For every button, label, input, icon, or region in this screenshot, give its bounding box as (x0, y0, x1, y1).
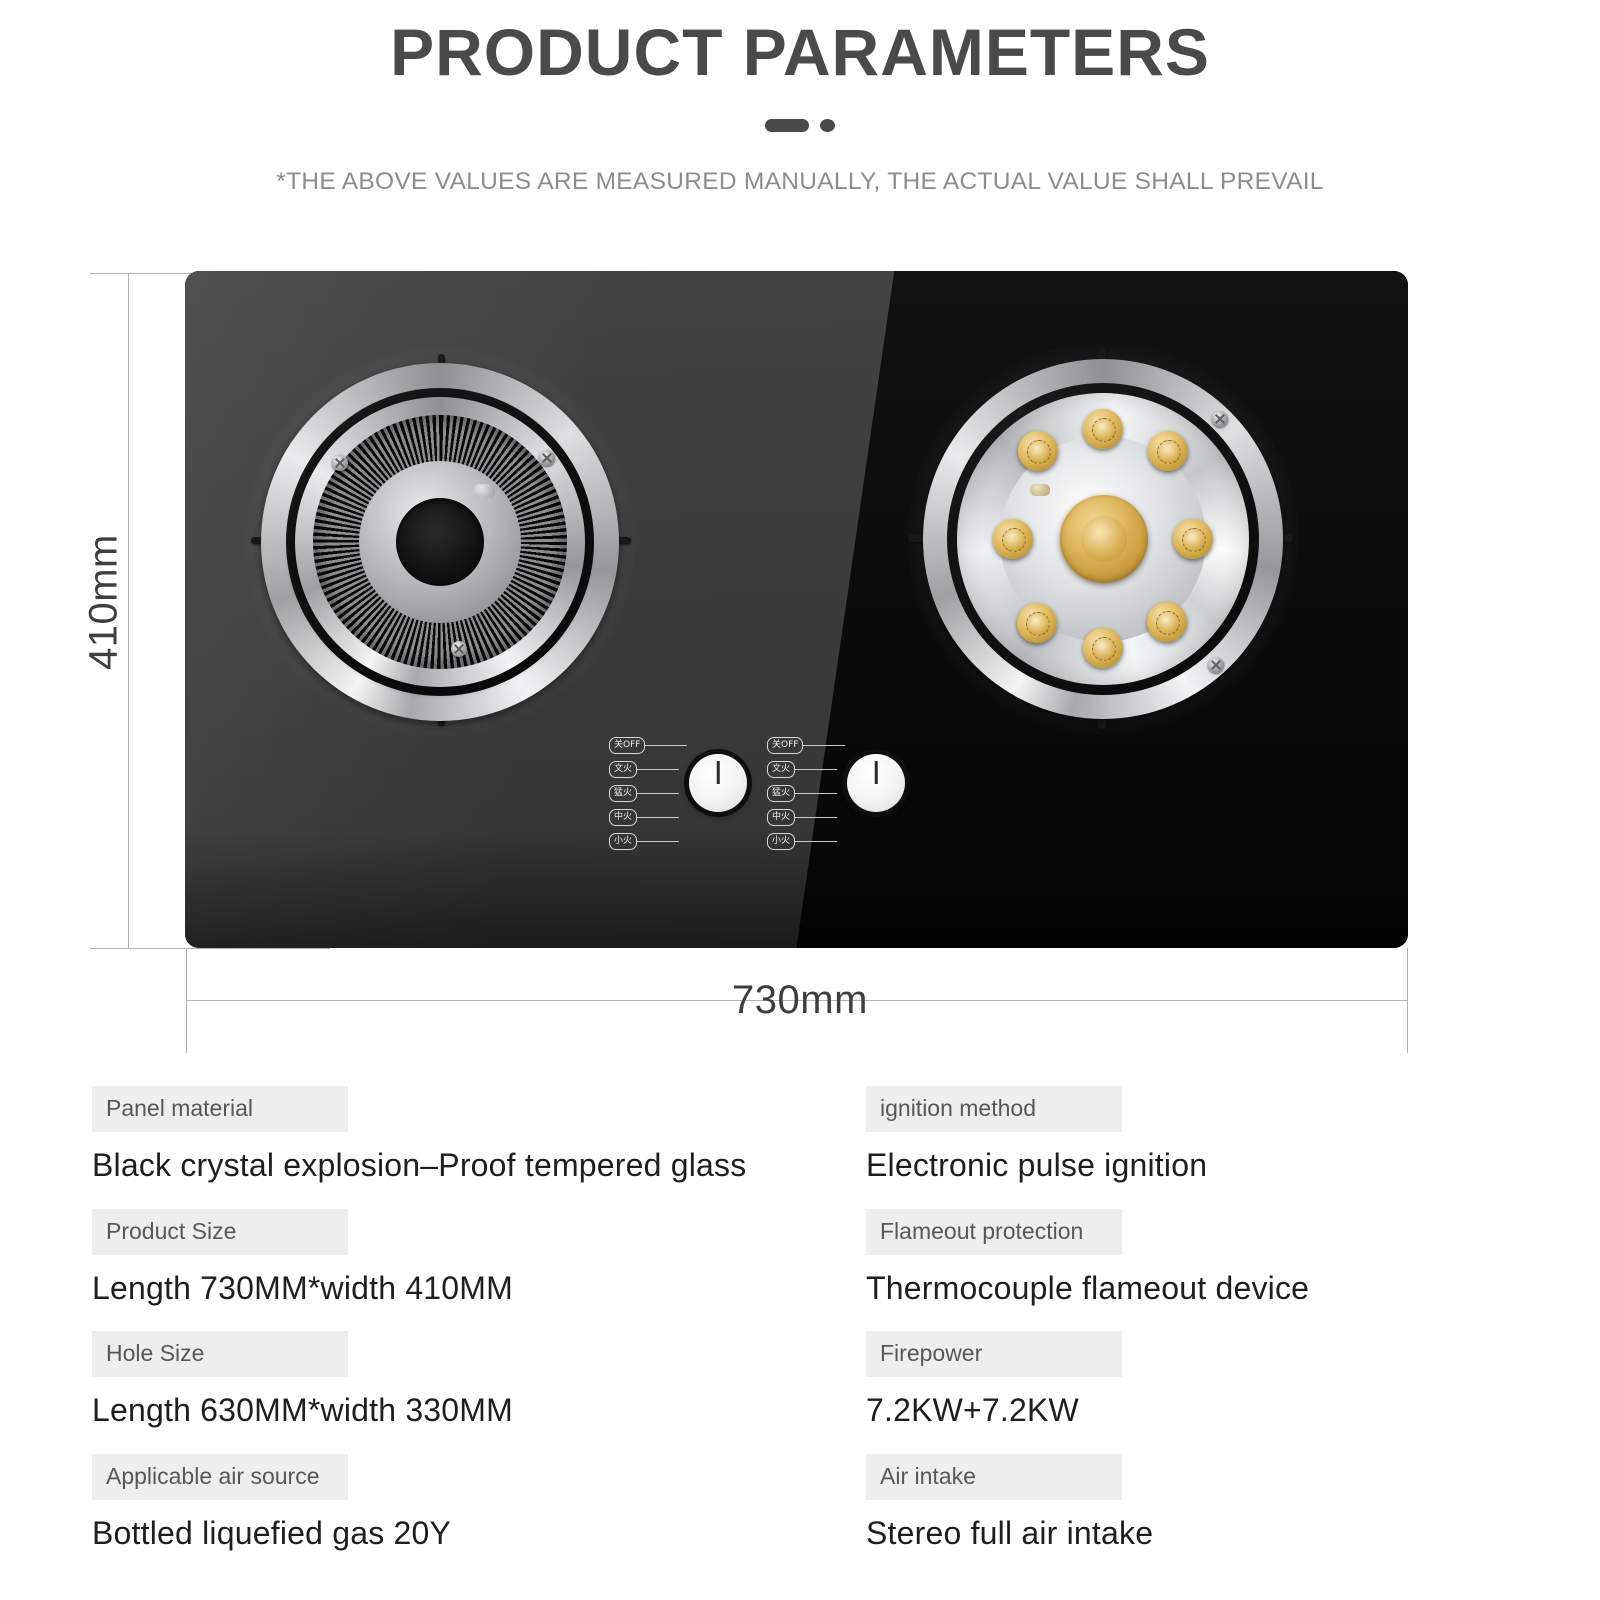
burner-jet-5 (1083, 628, 1123, 668)
spec-value: Thermocouple flameout device (866, 1272, 1566, 1306)
burner-brass-center-cap (1060, 495, 1148, 583)
knob-label-low-2: 小火 (767, 833, 795, 850)
spec-row: Hole Size Length 630MM*width 330MM (92, 1331, 792, 1428)
burner-screw-right-bottom (1208, 657, 1224, 673)
spec-label: Firepower (866, 1331, 1122, 1377)
knob-label-medium-2: 中火 (767, 809, 795, 826)
specs-column-left: Panel material Black crystal explosion–P… (92, 1086, 792, 1576)
knob-label-simmer-2: 文火 (767, 761, 795, 778)
spec-label: Panel material (92, 1086, 348, 1132)
spec-row: Flameout protection Thermocouple flameou… (866, 1209, 1566, 1306)
spec-row: Product Size Length 730MM*width 410MM (92, 1209, 792, 1306)
spec-value: Bottled liquefied gas 20Y (92, 1517, 792, 1551)
spec-label: ignition method (866, 1086, 1122, 1132)
knob-label-off-2: 关OFF (767, 737, 803, 754)
knob-label-medium: 中火 (609, 809, 637, 826)
spec-row: Air intake Stereo full air intake (866, 1454, 1566, 1551)
knob-pointer (717, 761, 720, 784)
spec-label: Flameout protection (866, 1209, 1122, 1255)
spec-label: Applicable air source (92, 1454, 348, 1500)
knob-label-off: 关OFF (609, 737, 645, 754)
gas-stove-image: 关OFF 文火 猛火 中火 (185, 271, 1408, 948)
burner-screw-right-top (1212, 411, 1228, 427)
igniter-electrode-right (1030, 484, 1050, 496)
burner-screw-top-right (539, 450, 555, 466)
burner-jet-4 (1147, 602, 1187, 642)
burner-jet-3 (1173, 519, 1213, 559)
spec-row: Applicable air source Bottled liquefied … (92, 1454, 792, 1551)
burner-jet-8 (1018, 431, 1058, 471)
knob-pointer-2 (875, 761, 878, 784)
product-parameters-page: PRODUCT PARAMETERS *THE ABOVE VALUES ARE… (0, 0, 1600, 1600)
spec-value: Stereo full air intake (866, 1517, 1566, 1551)
burner-jet-2 (1148, 431, 1188, 471)
burner-control-right[interactable]: 关OFF 文火 猛火 中火 (767, 737, 902, 849)
height-dimension-label: 410mm (78, 497, 130, 707)
spec-value: Length 730MM*width 410MM (92, 1272, 792, 1306)
control-knob-left[interactable] (689, 754, 747, 812)
spec-row: ignition method Electronic pulse ignitio… (866, 1086, 1566, 1183)
burner-screw-bottom (451, 641, 467, 657)
spec-row: Panel material Black crystal explosion–P… (92, 1086, 792, 1183)
spec-row: Firepower 7.2KW+7.2KW (866, 1331, 1566, 1428)
burner-control-left[interactable]: 关OFF 文火 猛火 中火 (609, 737, 744, 849)
specs-column-right: ignition method Electronic pulse ignitio… (866, 1086, 1566, 1576)
burner-screw-top-left (332, 455, 348, 471)
knob-label-simmer: 文火 (609, 761, 637, 778)
width-dimension-label: 730mm (0, 978, 1600, 1023)
knob-label-low: 小火 (609, 833, 637, 850)
knob-label-high-2: 猛火 (767, 785, 795, 802)
extension-line-bottom (90, 948, 330, 949)
spec-label: Product Size (92, 1209, 348, 1255)
burner-jet-1 (1083, 409, 1123, 449)
dimension-drawing: 410mm 730mm (0, 0, 1600, 1060)
spec-label: Air intake (866, 1454, 1122, 1500)
knob-label-high: 猛火 (609, 785, 637, 802)
igniter-electrode (473, 484, 495, 498)
spec-label: Hole Size (92, 1331, 348, 1377)
control-knob-right[interactable] (847, 754, 905, 812)
spec-value: Electronic pulse ignition (866, 1149, 1566, 1183)
spec-value: 7.2KW+7.2KW (866, 1394, 1566, 1428)
spec-value: Black crystal explosion–Proof tempered g… (92, 1149, 792, 1183)
burner-jet-6 (1017, 603, 1057, 643)
spec-value: Length 630MM*width 330MM (92, 1394, 792, 1428)
burner-jet-7 (993, 519, 1033, 559)
burner-shadow-ring (313, 415, 567, 669)
